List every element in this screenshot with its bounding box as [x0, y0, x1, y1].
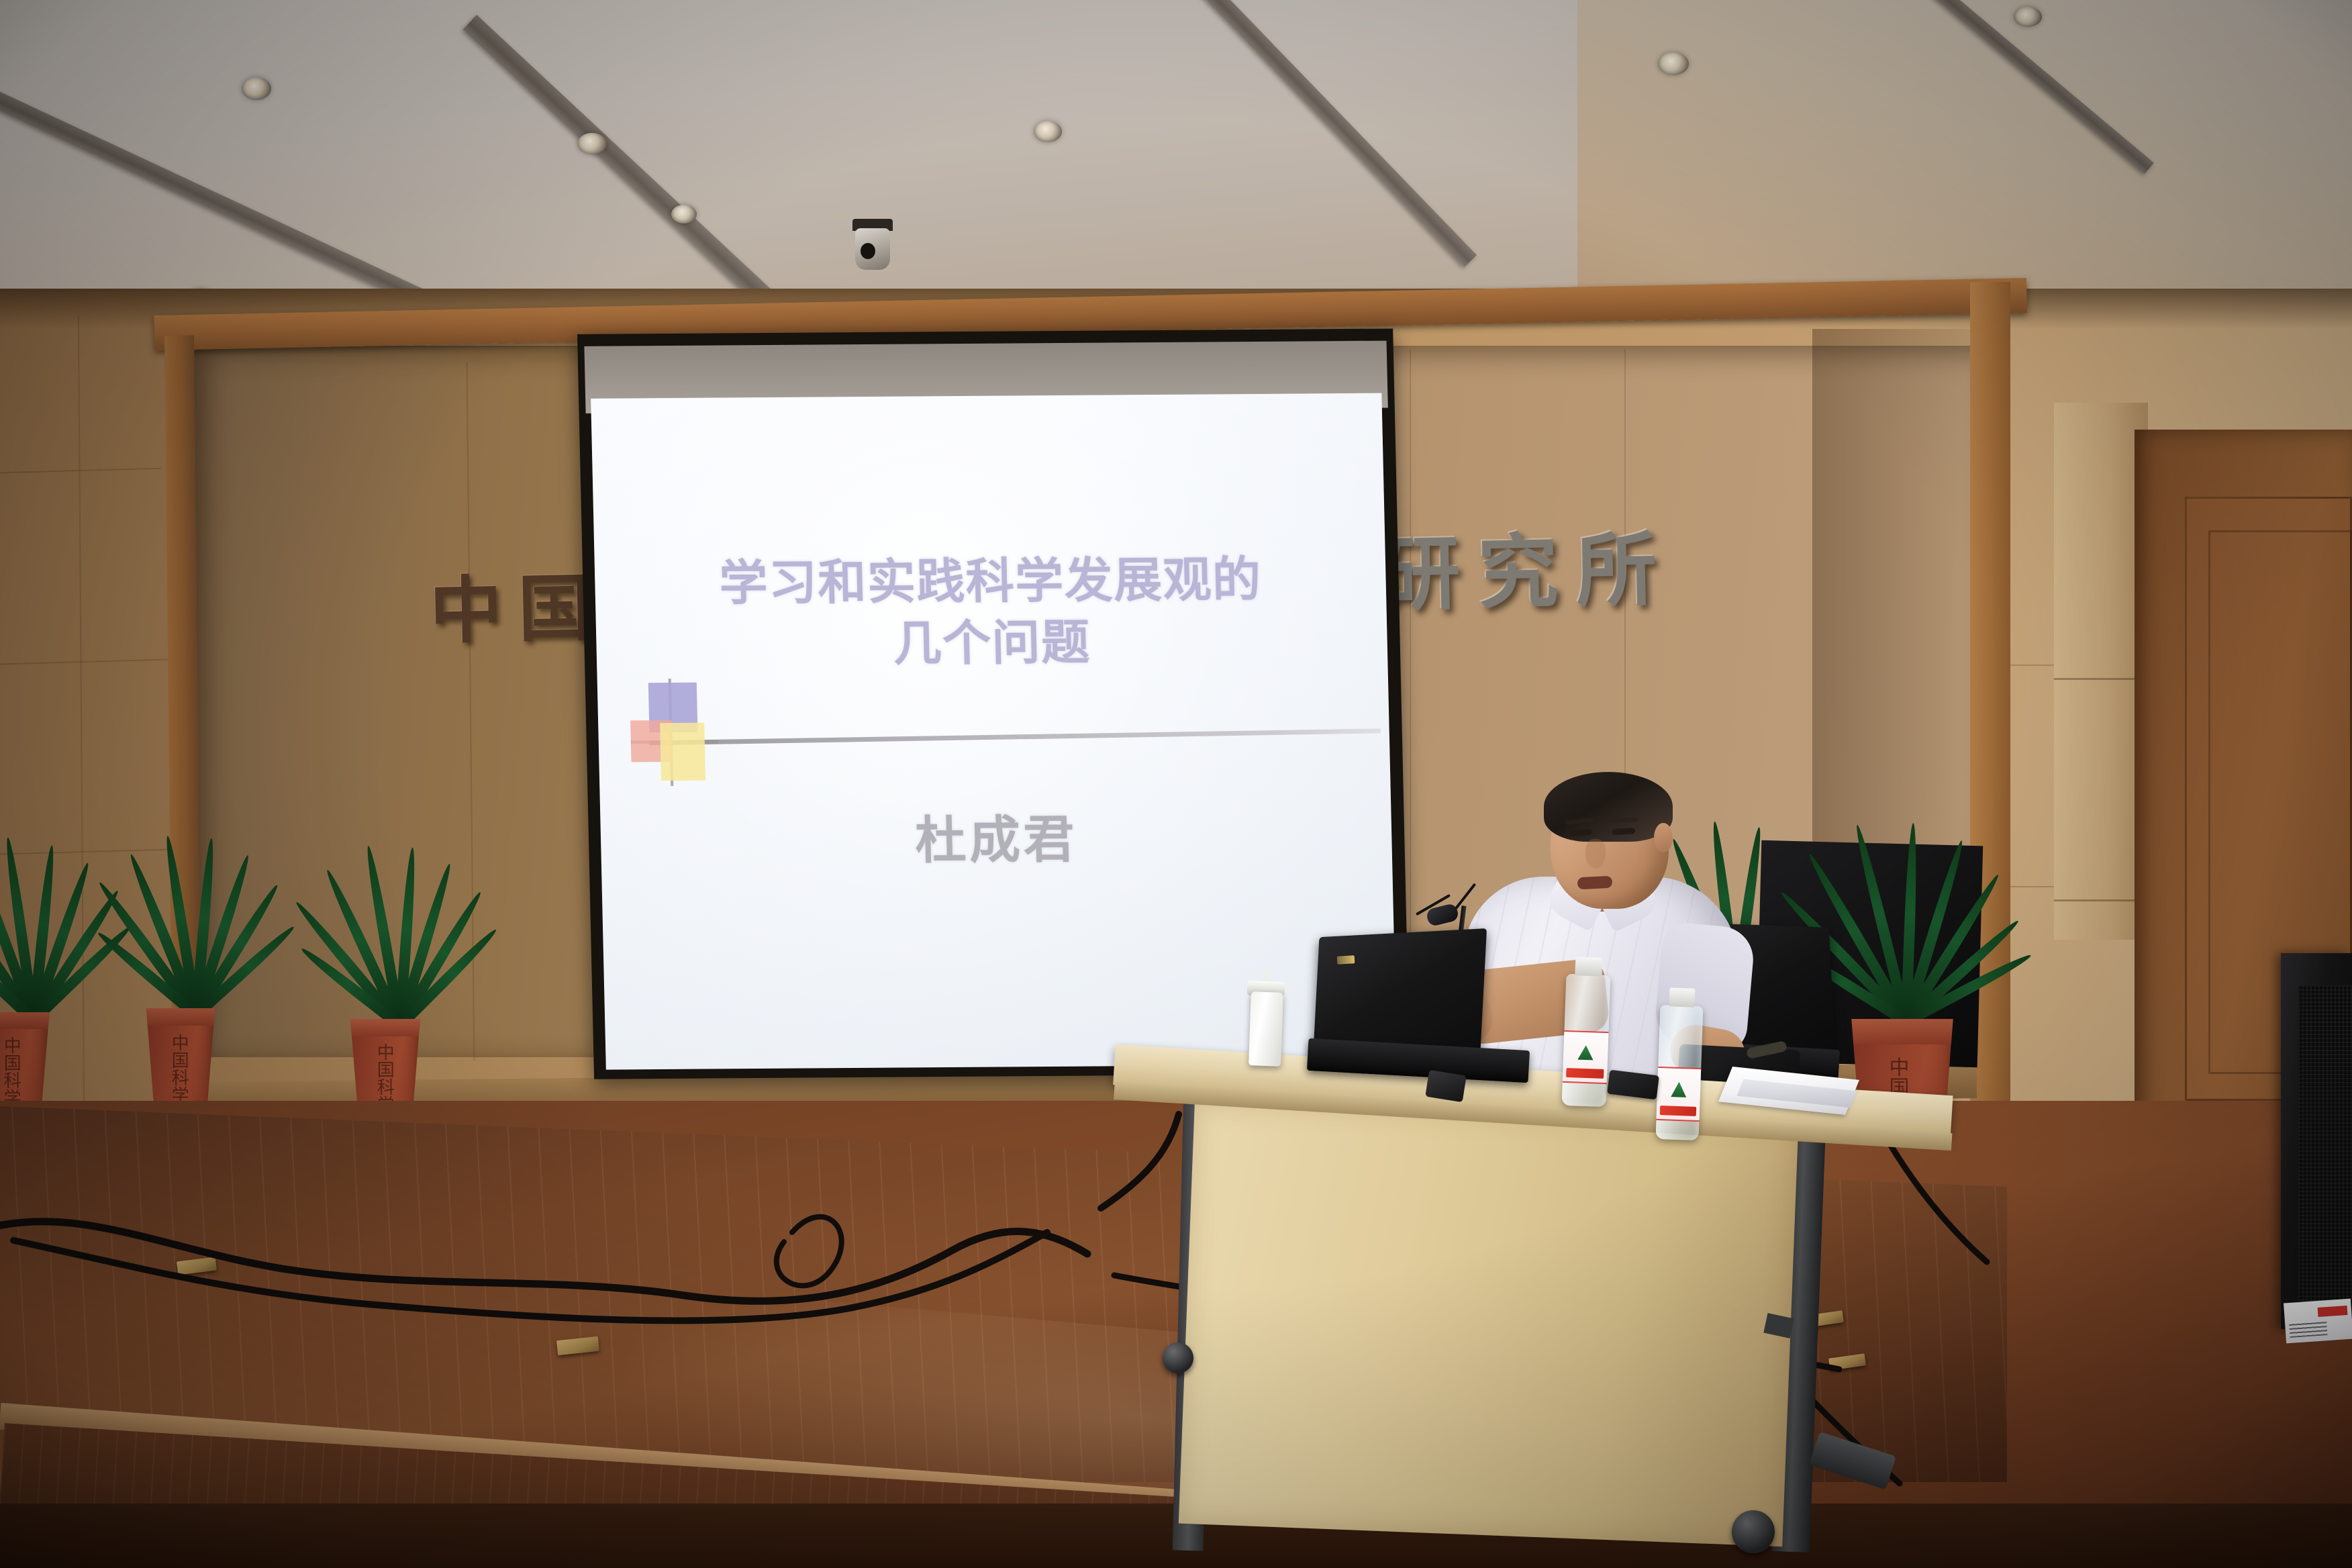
desk-modesty-panel [1179, 1101, 1799, 1547]
ceiling-downlight [577, 133, 607, 154]
notice-sheet [2284, 1299, 2352, 1344]
presenter-mouth [1577, 876, 1613, 890]
loudspeaker-grille [2298, 985, 2352, 1301]
ceiling-downlight [671, 205, 697, 224]
ceiling-downlight [1658, 52, 1689, 75]
ceiling-warm-zone [1577, 0, 2352, 315]
presenter-nose [1585, 839, 1606, 869]
photo-scene: 中国科 研究所 学习和实践科学发展观的 几个问题 杜成君 [0, 0, 2352, 1568]
ceiling-camera-icon [852, 219, 893, 271]
right-wall-panel [2054, 403, 2148, 940]
bottle-label [1563, 1030, 1609, 1084]
tea-cup[interactable] [1248, 991, 1283, 1067]
water-bottle[interactable] [1656, 1005, 1704, 1140]
bottle-label [1657, 1067, 1702, 1122]
ceiling-downlight [1034, 121, 1062, 142]
right-wall-seam [2054, 899, 2148, 901]
slide-author: 杜成君 [600, 795, 1393, 875]
slide-deco-square-yellow [660, 723, 705, 781]
cable-clip[interactable] [1425, 1070, 1467, 1102]
plant-leaves [333, 847, 467, 1026]
plant-leaves [130, 839, 262, 1015]
water-bottle[interactable] [1562, 974, 1611, 1107]
presenter-hair [1544, 772, 1673, 842]
laptop-logo-icon [1337, 955, 1355, 964]
right-wall-seam [2054, 678, 2148, 680]
desk-caster [1163, 1342, 1193, 1373]
ceiling-downlight [2014, 7, 2042, 27]
presenter-ear [1654, 823, 1673, 852]
slide-decoration [630, 678, 720, 786]
presenter-eye-right [1612, 828, 1635, 835]
plant-leaves [0, 839, 101, 1020]
wall-calligraphy-right: 研究所 [1378, 503, 1675, 626]
plant-leaves [1832, 820, 1980, 1022]
slide-title: 学习和实践科学发展观的 几个问题 [594, 548, 1387, 677]
desk-caster [1732, 1510, 1775, 1553]
bottle-cap [1575, 957, 1602, 976]
bottle-cap [1669, 987, 1695, 1007]
screen-surface: 学习和实践科学发展观的 几个问题 杜成君 [591, 393, 1397, 1070]
projection-screen[interactable]: 学习和实践科学发展观的 几个问题 杜成君 [577, 329, 1410, 1079]
slide-title-line-1: 学习和实践科学发展观的 [594, 548, 1386, 615]
slide-title-line-2: 几个问题 [595, 609, 1387, 677]
ceiling-downlight [242, 77, 271, 100]
